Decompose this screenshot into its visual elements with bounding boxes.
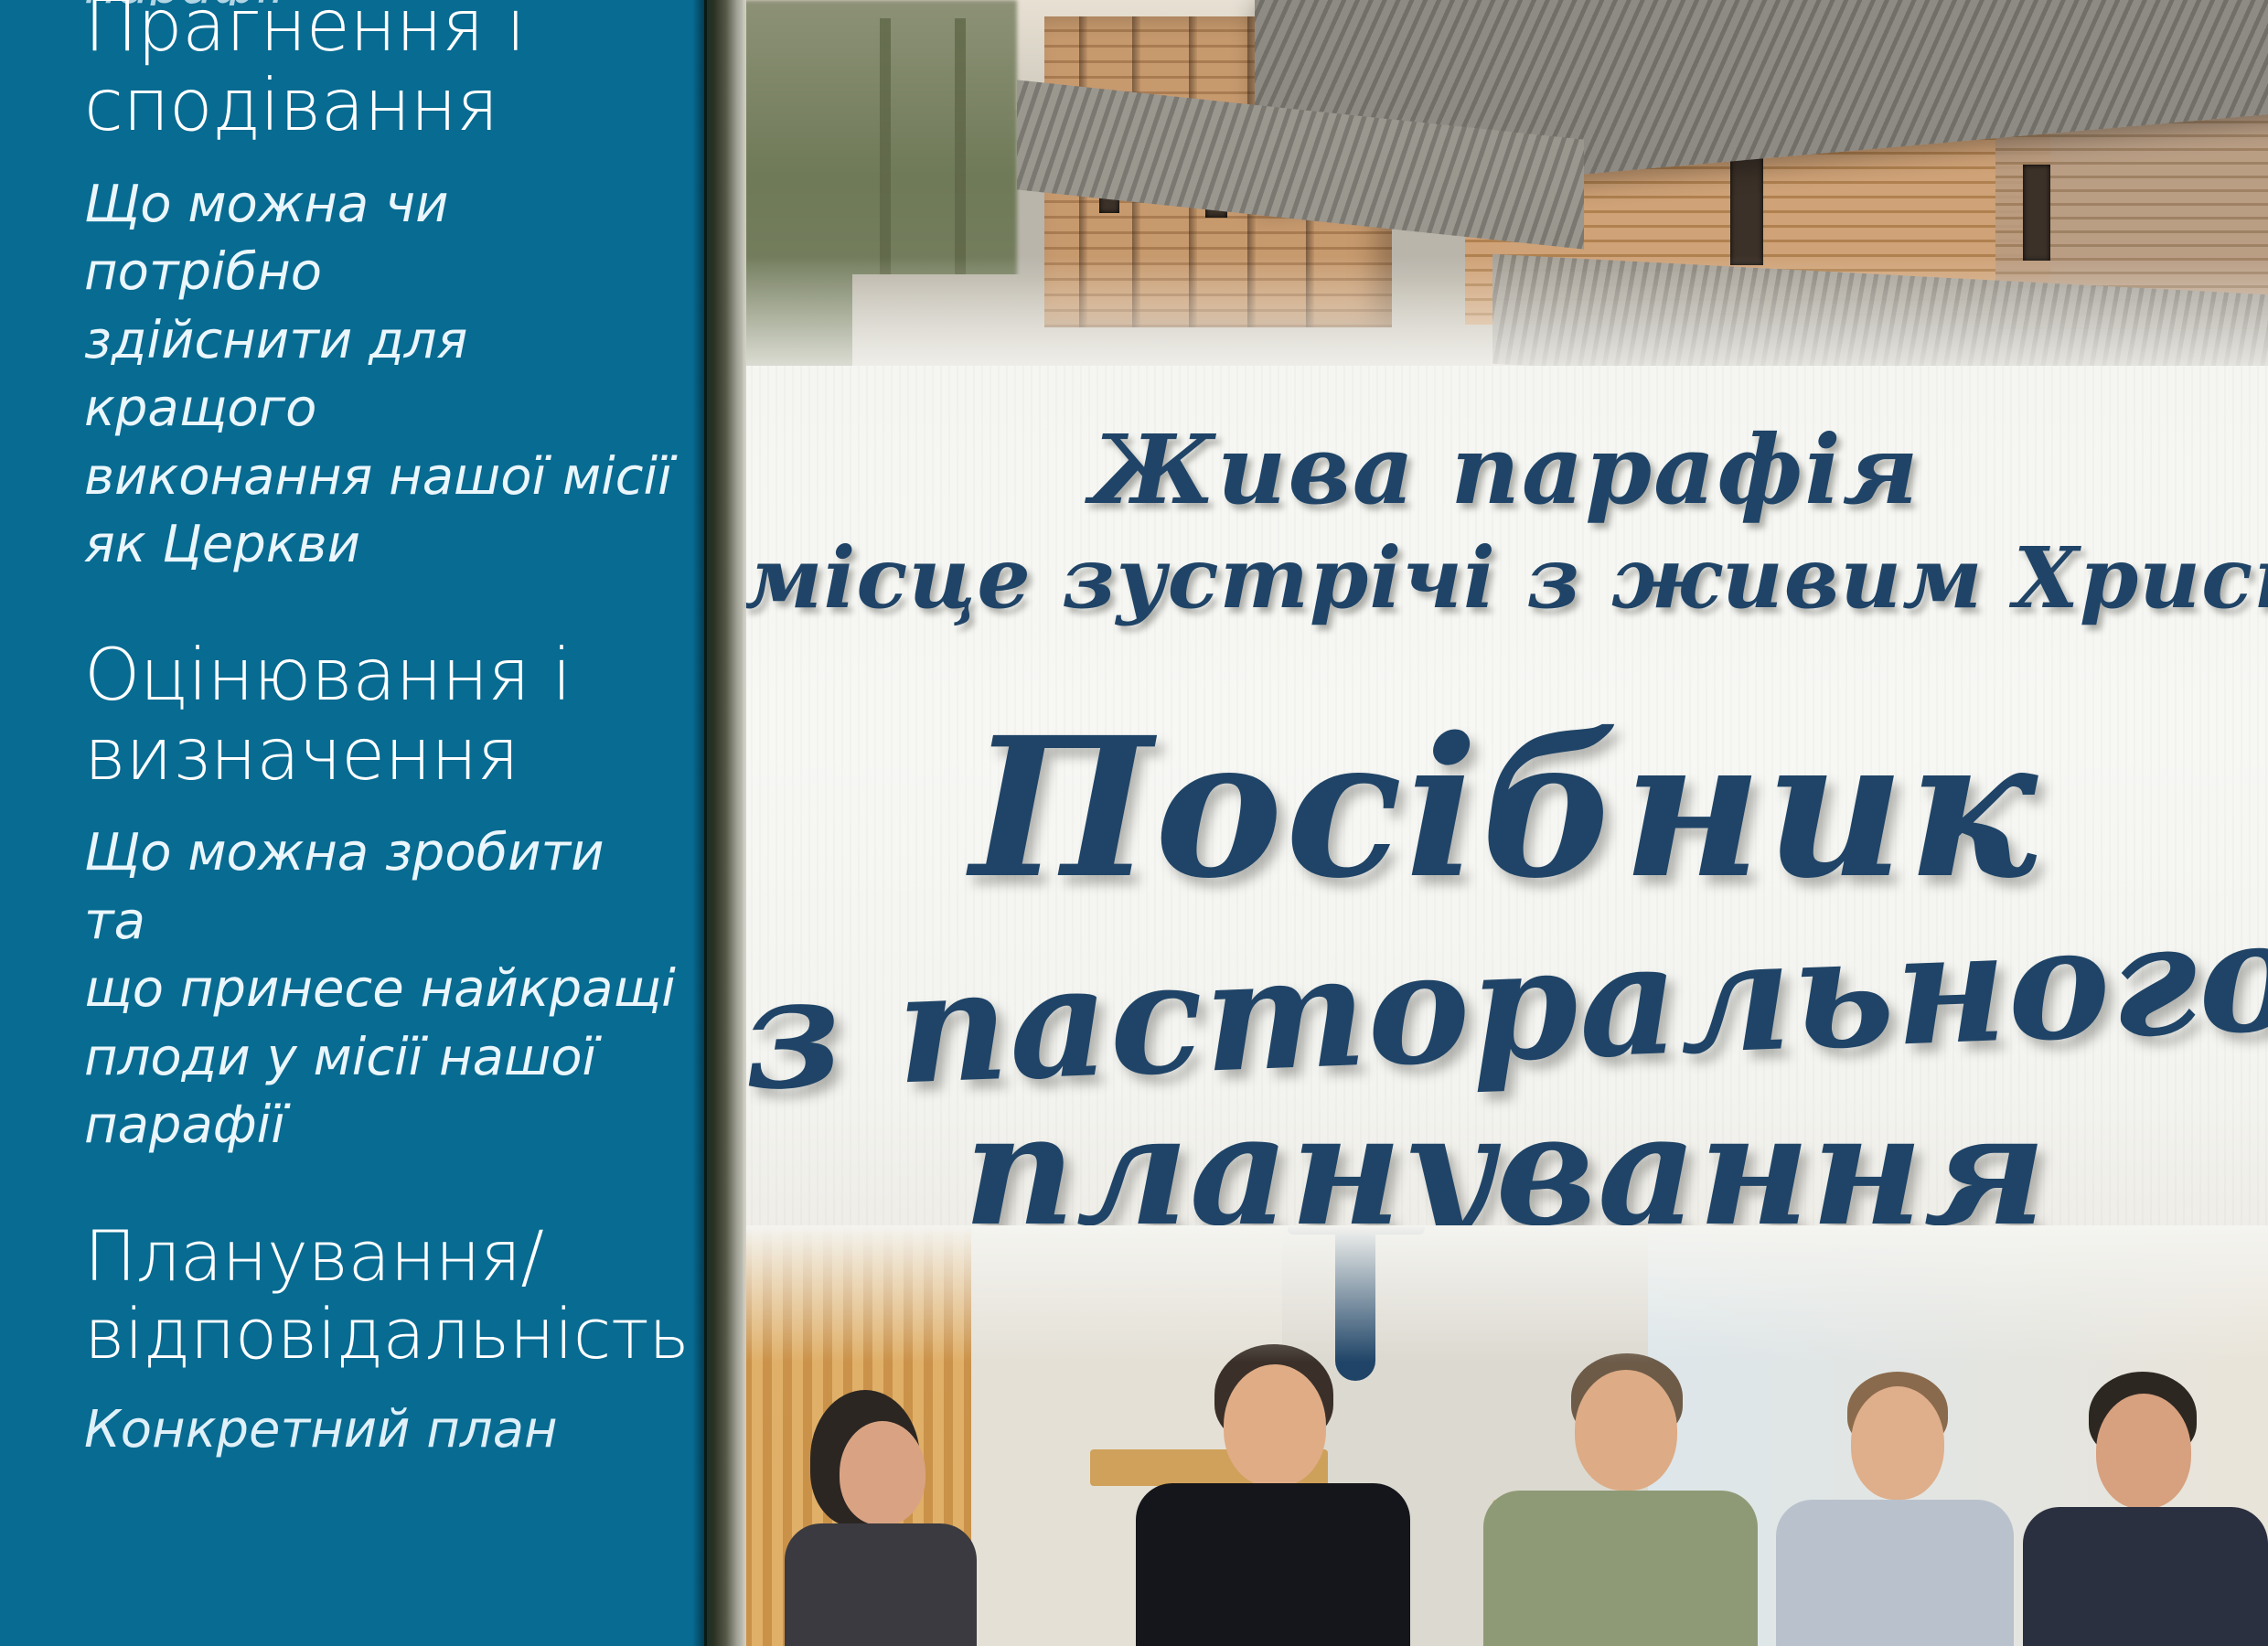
wooden-church-photo <box>743 0 2268 393</box>
torso <box>1776 1500 2014 1646</box>
sidebar-section-aspirations: Прагнення і сподівання Що можна чи потрі… <box>84 0 679 580</box>
sidebar-section-heading: Оцінювання і визначення <box>84 636 679 796</box>
head <box>2096 1394 2191 1509</box>
person <box>1776 1372 2014 1646</box>
head <box>840 1421 925 1525</box>
spine-seam <box>704 0 746 1646</box>
cover-kicker-line-1: Жива парафія <box>743 413 2268 526</box>
tree-trunk <box>955 18 966 293</box>
sidebar-content: Прагнення і сподівання Що можна чи потрі… <box>84 0 679 1521</box>
sidebar-section-planning: Планування/ відповідальність Конкретний … <box>84 1217 679 1465</box>
head <box>1224 1364 1326 1487</box>
sidebar-edge-shadow <box>692 0 707 1646</box>
torso <box>1483 1491 1758 1646</box>
person <box>779 1390 980 1646</box>
person <box>2023 1372 2268 1646</box>
parish-meeting-photo <box>743 1225 2268 1646</box>
person <box>1136 1344 1410 1646</box>
sidebar-section-body: Що можна чи потрібно здійснити для кращо… <box>84 171 679 580</box>
sidebar-section-heading: Прагнення і сподівання <box>84 0 679 147</box>
head <box>1575 1370 1677 1491</box>
sidebar-section-heading: Планування/ відповідальність <box>84 1217 679 1373</box>
cover-photo-panel: Жива парафія місце зустрічі з живим Хрис… <box>743 0 2268 1646</box>
torso <box>2023 1507 2268 1646</box>
head <box>1851 1386 1944 1500</box>
sidebar-section-body: Що можна зробити та що принесе найкращі … <box>84 819 679 1160</box>
torso <box>1136 1483 1410 1646</box>
sidebar-section-body: Конкретний план <box>84 1396 679 1464</box>
photo-fade <box>743 1225 2268 1363</box>
book-cover: парафії Прагнення і сподівання Що можна … <box>0 0 2268 1646</box>
cover-title: Посібник <box>743 695 2268 921</box>
cover-kicker-line-2: місце зустрічі з живим Христом <box>743 529 2268 627</box>
church-window <box>2023 165 2050 261</box>
torso <box>785 1523 977 1646</box>
person <box>1483 1353 1758 1646</box>
church-window <box>1730 155 1763 265</box>
sidebar-section-evaluation: Оцінювання і визначення Що можна зробити… <box>84 636 679 1160</box>
sidebar: парафії Прагнення і сподівання Що можна … <box>0 0 704 1646</box>
